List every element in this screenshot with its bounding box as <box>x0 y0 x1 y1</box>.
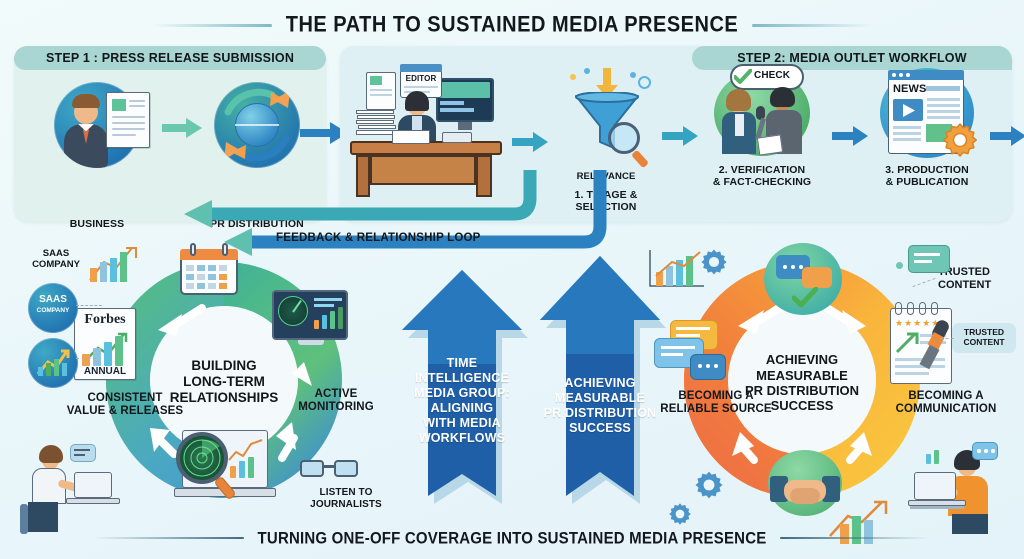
saas-company-badge-icon: SAAS COMPANY <box>28 283 78 333</box>
check-label: CHECK <box>754 70 790 82</box>
left-cycle-label-listen: LISTEN TO JOURNALISTS <box>300 487 392 510</box>
magnifier-icon <box>608 122 640 154</box>
title-rule-right <box>752 24 872 27</box>
saas-company-callout: SAAS COMPANY <box>26 248 86 271</box>
node-verification-factchecking: CHECK 2. VERIFICATION & FACT-CHECKING <box>692 60 832 188</box>
node-verification-label: 2. VERIFICATION & FACT-CHECKING <box>692 164 832 188</box>
globe-distribution-icon <box>214 82 300 168</box>
page-title: THE PATH TO SUSTAINED MEDIA PRESENCE <box>286 12 738 38</box>
step1-header: STEP 1 : PRESS RELEASE SUBMISSION <box>14 46 326 70</box>
forbes-annual-report-icon: Forbes ANNUAL <box>74 308 136 380</box>
glasses-icon <box>300 456 358 480</box>
arrow-verification-to-production <box>832 126 868 146</box>
bottom-rule-right <box>780 537 930 540</box>
arrow-business-to-pr <box>162 118 202 138</box>
trend-chart-decoration <box>86 240 152 286</box>
node-archiving-followup: 4. ARCHIVING & FOLLOW-UP <box>920 60 1024 224</box>
left-cycle-label-consistent: CONSISTENT VALUE & RELEASES <box>40 392 210 418</box>
ribbon-time-intelligence-text: TIME INTELLIGENCE MEDIA GROUP: ALIGNING … <box>396 356 528 446</box>
message-badge-icon <box>908 245 950 273</box>
chat-check-circle-icon <box>764 243 842 315</box>
review-notepad-icon: ★★★★★ <box>890 300 956 384</box>
chat-bubble-icon <box>70 444 96 462</box>
chat-bubbles-icon <box>654 320 734 384</box>
left-cycle-label-monitoring: ACTIVE MONITORING <box>288 388 384 414</box>
growth-chart-badge-icon <box>28 338 78 388</box>
bar-chart-decoration <box>648 246 706 290</box>
calendar-icon <box>180 243 238 295</box>
bottom-banner-text: TURNING ONE-OFF COVERAGE INTO SUSTAINED … <box>258 529 767 548</box>
forbes-subtitle: ANNUAL <box>74 366 136 377</box>
feedback-loop-label: FEEDBACK & RELATIONSHIP LOOP <box>276 232 481 246</box>
title-rule-left <box>152 24 272 27</box>
trusted-content-badge: TRUSTED CONTENT <box>952 323 1016 353</box>
gear-icon <box>694 470 724 500</box>
bottom-rule-left <box>94 537 244 540</box>
infographic-canvas: THE PATH TO SUSTAINED MEDIA PRESENCE STE… <box>0 0 1024 559</box>
ribbon-measurable-success-text: ACHIEVING MEASURABLE PR DISTRIBUTION SUC… <box>534 376 666 436</box>
monitoring-dashboard-icon <box>272 290 348 346</box>
person-at-laptop-left <box>18 440 118 530</box>
bottom-banner-row: TURNING ONE-OFF COVERAGE INTO SUSTAINED … <box>0 525 1024 551</box>
laptop-analysis-icon <box>170 430 280 508</box>
editor-label: EDITOR <box>400 74 442 83</box>
gear-icon <box>668 502 692 526</box>
forbes-title: Forbes <box>78 312 132 328</box>
person-at-laptop-right <box>914 442 1014 534</box>
arrow-editor-to-triage <box>512 132 548 152</box>
title-row: THE PATH TO SUSTAINED MEDIA PRESENCE <box>0 8 1024 42</box>
right-cycle-label-communication: BECOMING A COMMUNICATION <box>880 390 1012 416</box>
press-release-document-icon <box>106 92 150 148</box>
right-cycle-label-reliable: BECOMING A RELIABLE SOURCE <box>650 390 782 416</box>
